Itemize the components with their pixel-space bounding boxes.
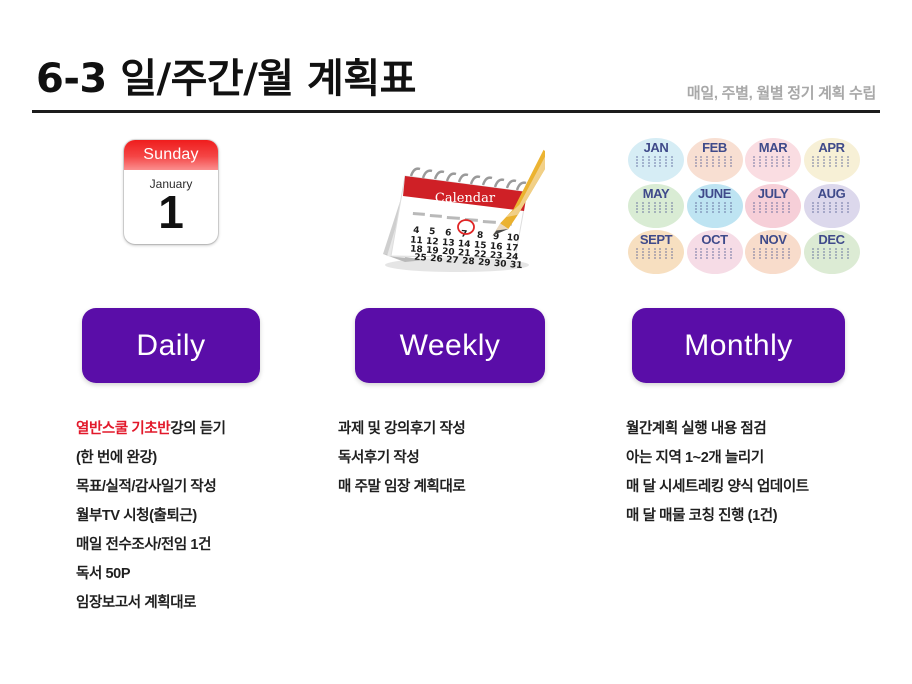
- task-text: 매일 전수조사/전임 1건: [76, 537, 211, 553]
- month-circle: MAY: [628, 184, 684, 228]
- task-text: 과제 및 강의후기 작성: [338, 421, 465, 437]
- month-label: NOV: [760, 233, 787, 246]
- mini-month-grid: [753, 202, 793, 213]
- month-circle: NOV: [745, 230, 801, 274]
- month-circle: MAR: [745, 138, 801, 182]
- task-item: 매 주말 임장 계획대로: [338, 473, 588, 502]
- task-item: 열반스쿨 기초반강의 듣기: [76, 415, 316, 444]
- svg-text:25: 25: [414, 253, 427, 264]
- task-item: 독서 50P: [76, 560, 316, 589]
- svg-text:8: 8: [477, 231, 484, 241]
- mini-month-grid: [812, 202, 852, 213]
- mini-month-grid: [695, 248, 735, 259]
- mini-month-grid: [753, 248, 793, 259]
- page-title: 6-3 일/주간/월 계획표: [36, 46, 416, 104]
- button-monthly[interactable]: Monthly: [632, 308, 845, 383]
- mini-month-grid: [636, 202, 676, 213]
- month-label: FEB: [702, 141, 727, 154]
- task-text: 월부TV 시청(출퇴근): [76, 508, 197, 524]
- svg-text:6: 6: [445, 228, 452, 238]
- task-text: 월간계획 실행 내용 점검: [626, 421, 766, 437]
- month-circle: DEC: [804, 230, 860, 274]
- month-label: AUG: [818, 187, 846, 200]
- task-item: 매 달 시세트레킹 양식 업데이트: [626, 473, 901, 502]
- svg-text:31: 31: [509, 260, 522, 271]
- column-monthly: JANFEBMARAPRMAYJUNEJULYAUGSEPTOCTNOVDEC …: [604, 130, 884, 684]
- column-daily: Sunday January 1 Daily 열반스쿨 기초반강의 듣기(한 번…: [36, 130, 306, 684]
- mini-month-grid: [753, 156, 793, 167]
- task-text: 매 달 시세트레킹 양식 업데이트: [626, 479, 809, 495]
- task-list-monthly: 월간계획 실행 내용 점검아는 지역 1~2개 늘리기매 달 시세트레킹 양식 …: [626, 415, 901, 531]
- task-item: 임장보고서 계획대로: [76, 589, 316, 618]
- task-item: (한 번에 완강): [76, 444, 316, 473]
- month-circle: SEPT: [628, 230, 684, 274]
- desk-calendar-icon: Calendar: [365, 136, 545, 281]
- task-text: 목표/실적/감사일기 작성: [76, 479, 216, 495]
- task-list-weekly: 과제 및 강의후기 작성독서후기 작성매 주말 임장 계획대로: [338, 415, 588, 502]
- day-calendar-weekday: Sunday: [124, 140, 218, 170]
- task-highlight: 열반스쿨 기초반: [76, 421, 170, 437]
- mini-month-grid: [812, 156, 852, 167]
- task-item: 목표/실적/감사일기 작성: [76, 473, 316, 502]
- month-circle: OCT: [687, 230, 743, 274]
- svg-text:29: 29: [478, 258, 491, 269]
- mini-month-grid: [812, 248, 852, 259]
- mini-month-grid: [636, 248, 676, 259]
- svg-text:4: 4: [413, 226, 420, 236]
- month-label: SEPT: [640, 233, 672, 246]
- task-item: 과제 및 강의후기 작성: [338, 415, 588, 444]
- month-label: DEC: [818, 233, 844, 246]
- month-circle: APR: [804, 138, 860, 182]
- button-daily[interactable]: Daily: [82, 308, 260, 383]
- plan-columns: Sunday January 1 Daily 열반스쿨 기초반강의 듣기(한 번…: [0, 130, 912, 684]
- svg-text:5: 5: [429, 227, 436, 237]
- weekly-artwork: Calendar: [320, 130, 590, 290]
- month-label: OCT: [701, 233, 727, 246]
- task-list-daily: 열반스쿨 기초반강의 듣기(한 번에 완강)목표/실적/감사일기 작성월부TV …: [76, 415, 316, 618]
- month-circle: JUNE: [687, 184, 743, 228]
- svg-text:26: 26: [430, 254, 443, 265]
- svg-text:27: 27: [446, 255, 459, 266]
- task-text: 독서 50P: [76, 566, 130, 582]
- month-circle: JAN: [628, 138, 684, 182]
- task-text: 매 달 매물 코칭 진행 (1건): [626, 508, 777, 524]
- svg-text:Calendar: Calendar: [435, 191, 496, 206]
- task-text: 매 주말 임장 계획대로: [338, 479, 465, 495]
- column-weekly: Calendar: [320, 130, 590, 684]
- svg-text:30: 30: [494, 259, 507, 270]
- month-circle-grid: JANFEBMARAPRMAYJUNEJULYAUGSEPTOCTNOVDEC: [628, 138, 860, 274]
- task-item: 매일 전수조사/전임 1건: [76, 531, 316, 560]
- task-text: (한 번에 완강): [76, 450, 157, 466]
- task-text: 강의 듣기: [170, 421, 225, 437]
- task-item: 월부TV 시청(출퇴근): [76, 502, 316, 531]
- task-text: 독서후기 작성: [338, 450, 419, 466]
- month-circle: AUG: [804, 184, 860, 228]
- day-calendar-day: 1: [124, 189, 218, 235]
- mini-month-grid: [636, 156, 676, 167]
- month-circle: JULY: [745, 184, 801, 228]
- mini-month-grid: [695, 156, 735, 167]
- task-item: 독서후기 작성: [338, 444, 588, 473]
- day-calendar-icon: Sunday January 1: [124, 140, 218, 244]
- task-item: 월간계획 실행 내용 점검: [626, 415, 901, 444]
- month-label: MAY: [643, 187, 670, 200]
- mini-month-grid: [695, 202, 735, 213]
- month-label: JUNE: [698, 187, 731, 200]
- task-item: 아는 지역 1~2개 늘리기: [626, 444, 901, 473]
- page-subtitle: 매일, 주별, 월별 정기 계획 수립: [687, 82, 876, 103]
- slide-header: 6-3 일/주간/월 계획표 매일, 주별, 월별 정기 계획 수립: [0, 0, 912, 116]
- month-label: JULY: [758, 187, 788, 200]
- month-label: MAR: [759, 141, 787, 154]
- task-text: 아는 지역 1~2개 늘리기: [626, 450, 764, 466]
- month-label: JAN: [644, 141, 669, 154]
- month-circle: FEB: [687, 138, 743, 182]
- button-weekly[interactable]: Weekly: [355, 308, 545, 383]
- task-text: 임장보고서 계획대로: [76, 595, 196, 611]
- task-item: 매 달 매물 코칭 진행 (1건): [626, 502, 901, 531]
- month-label: APR: [818, 141, 844, 154]
- svg-text:28: 28: [462, 256, 475, 267]
- header-divider: [32, 110, 880, 113]
- monthly-artwork: JANFEBMARAPRMAYJUNEJULYAUGSEPTOCTNOVDEC: [604, 130, 884, 290]
- daily-artwork: Sunday January 1: [36, 130, 306, 290]
